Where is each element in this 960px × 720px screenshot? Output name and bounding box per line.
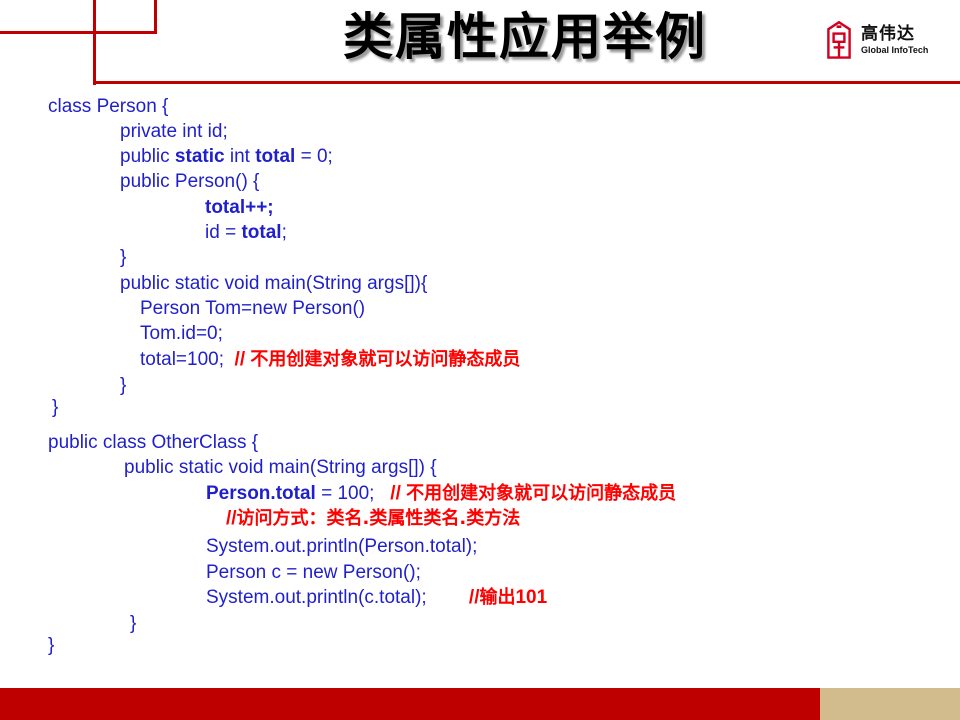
code-token: } [52, 397, 58, 418]
code-line: public static void main(String args[]){ [120, 273, 427, 295]
code-comment: 输出 [479, 587, 515, 608]
code-comment: 不用创建对象就可以访问静态成员 [250, 349, 520, 370]
code-token: } [48, 635, 54, 656]
code-token: id = [205, 222, 241, 243]
code-line: } [130, 613, 136, 635]
code-token: Tom.id=0; [140, 323, 223, 344]
code-token: Person c = new Person(); [206, 562, 421, 583]
code-line: Person c = new Person(); [206, 562, 421, 584]
code-comment: // [390, 483, 406, 504]
code-token: } [120, 375, 126, 396]
code-comment: // [469, 587, 480, 608]
code-token: System.out.println(Person.total); [206, 536, 477, 557]
code-line: } [52, 397, 58, 419]
code-token: public Person() { [120, 171, 259, 192]
code-token: } [120, 247, 126, 268]
code-line: Person.total = 100; // 不用创建对象就可以访问静态成员 [206, 483, 676, 505]
code-token: public static void main(String args[]){ [120, 273, 427, 294]
code-line: //访问方式：类名.类属性类名.类方法 [226, 508, 520, 530]
code-line: } [48, 635, 54, 657]
code-token: } [130, 613, 136, 634]
header-rule-right-vertical [154, 0, 157, 34]
code-line: public static int total = 0; [120, 146, 333, 168]
code-token: Person.total [206, 483, 316, 504]
code-token: int [225, 146, 256, 167]
code-line: System.out.println(Person.total); [206, 536, 477, 558]
header-rule-left-vertical [93, 0, 96, 85]
code-token: System.out.println(c.total); [206, 587, 469, 608]
slide-title: 类属性应用举例 [300, 2, 750, 72]
code-token: class Person { [48, 96, 168, 117]
code-line: public Person() { [120, 171, 259, 193]
code-line: total++; [205, 197, 274, 219]
code-line: Person Tom=new Person() [140, 298, 365, 320]
code-line: } [120, 247, 126, 269]
seal-icon [824, 20, 854, 60]
logo-wordmark: 高伟达 Global InfoTech [861, 26, 928, 55]
footer-bar-red [0, 688, 820, 720]
code-line: public class OtherClass { [48, 432, 258, 454]
slide-canvas: 类属性应用举例 高伟达 Global InfoTech class Person… [0, 0, 960, 720]
code-line: } [120, 375, 126, 397]
code-token: total [255, 146, 295, 167]
code-token: total++; [205, 197, 274, 218]
code-token: private int id; [120, 121, 228, 142]
code-token: Person Tom=new Person() [140, 298, 365, 319]
code-comment: // [235, 349, 251, 370]
code-line: id = total; [205, 222, 287, 244]
code-token: total=100; [140, 349, 235, 370]
code-token: total [241, 222, 281, 243]
code-token: static [175, 146, 225, 167]
header-rule-bottom-horizontal [93, 81, 960, 84]
code-comment: // [226, 508, 237, 529]
code-comment: 访问方式：类名.类属性类名.类方法 [237, 508, 521, 529]
code-line: total=100; // 不用创建对象就可以访问静态成员 [140, 349, 520, 371]
code-token: = 100; [316, 483, 390, 504]
code-token: public class OtherClass { [48, 432, 258, 453]
code-line: System.out.println(c.total); //输出101 [206, 587, 547, 609]
code-line: public static void main(String args[]) { [124, 457, 437, 479]
code-comment: 101 [515, 587, 547, 608]
footer-bar-tan [820, 688, 960, 720]
header-rule-top-horizontal [0, 31, 157, 34]
logo-name-en: Global InfoTech [861, 46, 928, 55]
code-listing: class Person {private int id;public stat… [0, 92, 960, 662]
code-comment: 不用创建对象就可以访问静态成员 [406, 483, 676, 504]
code-token: public [120, 146, 175, 167]
code-token: = 0; [295, 146, 333, 167]
logo-name-cn: 高伟达 [861, 26, 928, 43]
code-token: public static void main(String args[]) { [124, 457, 437, 478]
brand-logo: 高伟达 Global InfoTech [824, 20, 928, 60]
code-line: Tom.id=0; [140, 323, 223, 345]
code-line: private int id; [120, 121, 228, 143]
code-line: class Person { [48, 96, 168, 118]
code-token: ; [282, 222, 287, 243]
